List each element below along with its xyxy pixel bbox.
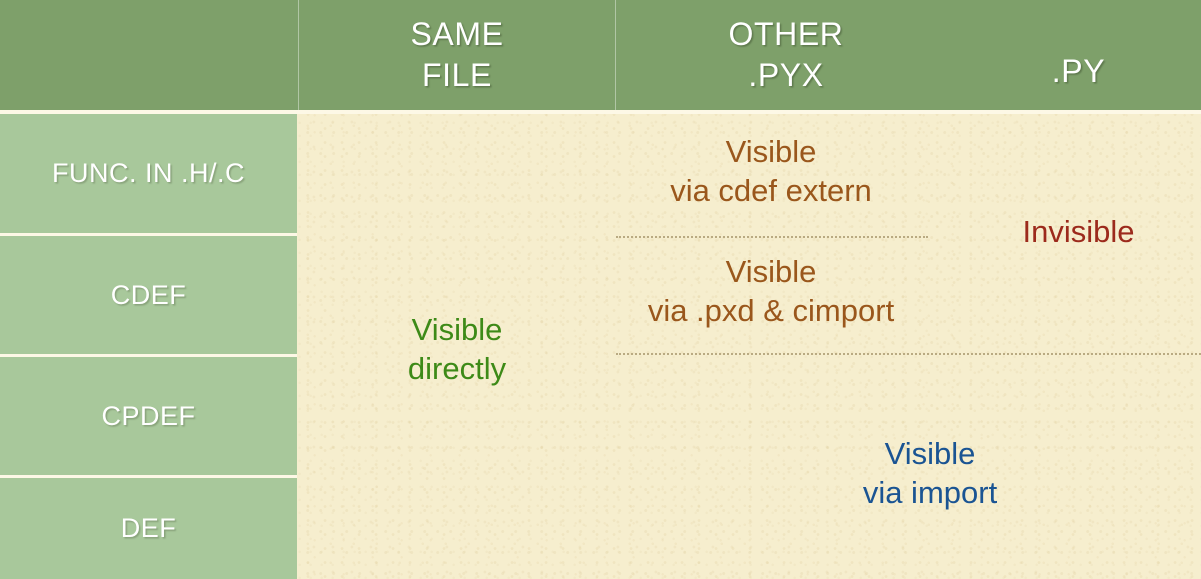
row-header-func-in-h-c: FUNC. IN .H/.C [0, 114, 297, 233]
cell-note-pyx-pxd-cimport: Visible via .pxd & cimport [616, 252, 926, 330]
cell-note-py-invisible: Invisible [956, 212, 1201, 251]
row-header-cpdef: CPDEF [0, 357, 297, 475]
column-header-same-file: SAME FILE [299, 0, 615, 110]
header-divider-2 [615, 0, 616, 110]
dotted-separator-2 [616, 353, 1201, 355]
cell-note-pyx-cdef-extern: Visible via cdef extern [616, 132, 926, 210]
table-corner-header [0, 0, 298, 110]
dotted-separator-1 [616, 236, 928, 238]
header-divider-1 [298, 0, 299, 110]
visibility-matrix-slide: SAME FILE OTHER .PYX .PY FUNC. IN .H/.C … [0, 0, 1201, 579]
row-header-def: DEF [0, 478, 297, 579]
column-header-py: .PY [956, 0, 1201, 110]
cell-note-same-file-visible-directly: Visible directly [299, 310, 615, 388]
column-header-other-pyx: OTHER .PYX [616, 0, 956, 110]
cell-note-py-visible-via-import: Visible via import [773, 434, 1087, 512]
row-header-cdef: CDEF [0, 236, 297, 354]
